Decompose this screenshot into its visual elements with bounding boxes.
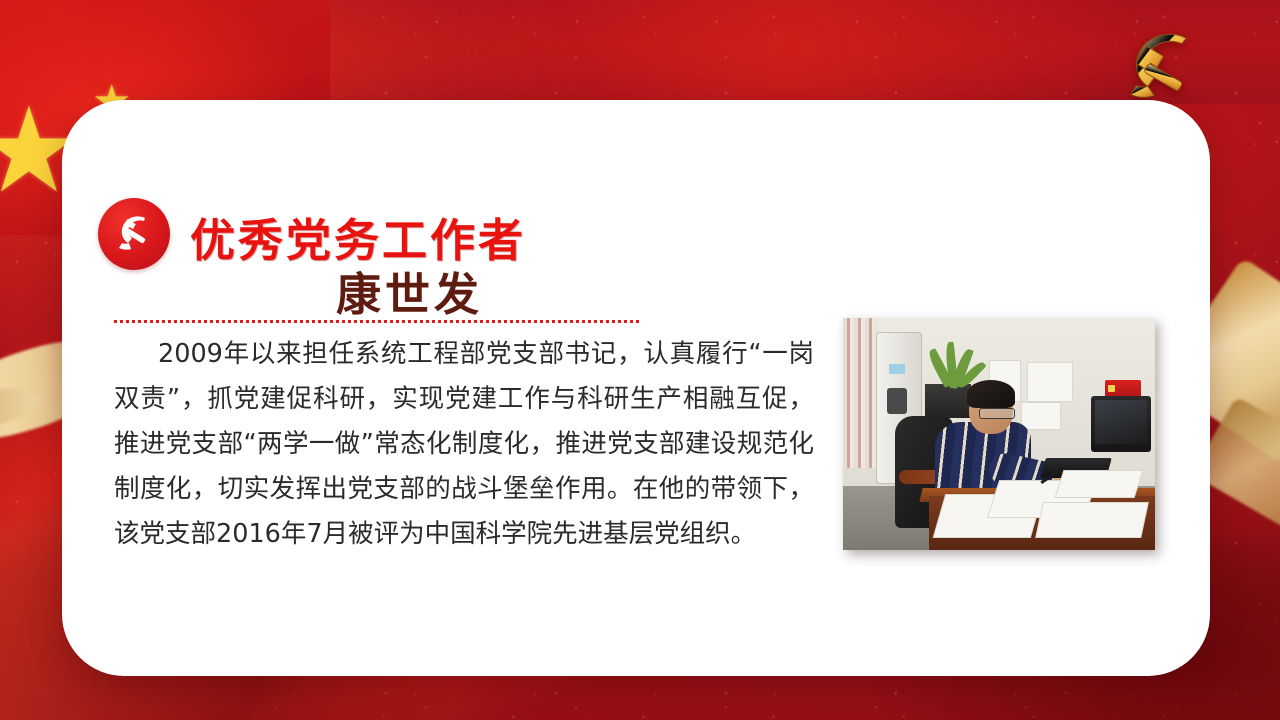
person-name: 康世发 <box>336 258 483 323</box>
photo-wall-notice <box>1021 402 1061 430</box>
photo-document-stack <box>1054 470 1143 498</box>
photo-curtain <box>843 318 877 468</box>
slide-root: ★ ★ ★ ★ ★ <box>0 0 1280 720</box>
photo-canvas <box>843 318 1155 550</box>
dotted-divider <box>114 320 641 323</box>
office-portrait-photo <box>843 318 1155 550</box>
photo-wall-notice <box>1027 362 1073 402</box>
photo-person-hair <box>967 380 1015 408</box>
photo-monitor-screen <box>1095 400 1147 444</box>
photo-person-glasses <box>979 408 1015 419</box>
body-paragraph: 2009年以来担任系统工程部党支部书记，认真履行“一岗双责”，抓党建促科研，实现… <box>114 332 814 557</box>
party-emblem-hammer-sickle-icon <box>98 198 170 270</box>
party-emblem-gold-icon <box>1108 24 1218 106</box>
photo-plant-pot <box>925 384 971 418</box>
photo-document-stack <box>1035 502 1149 538</box>
photo-ac-panel <box>889 364 905 374</box>
photo-ac-vent <box>887 388 907 414</box>
